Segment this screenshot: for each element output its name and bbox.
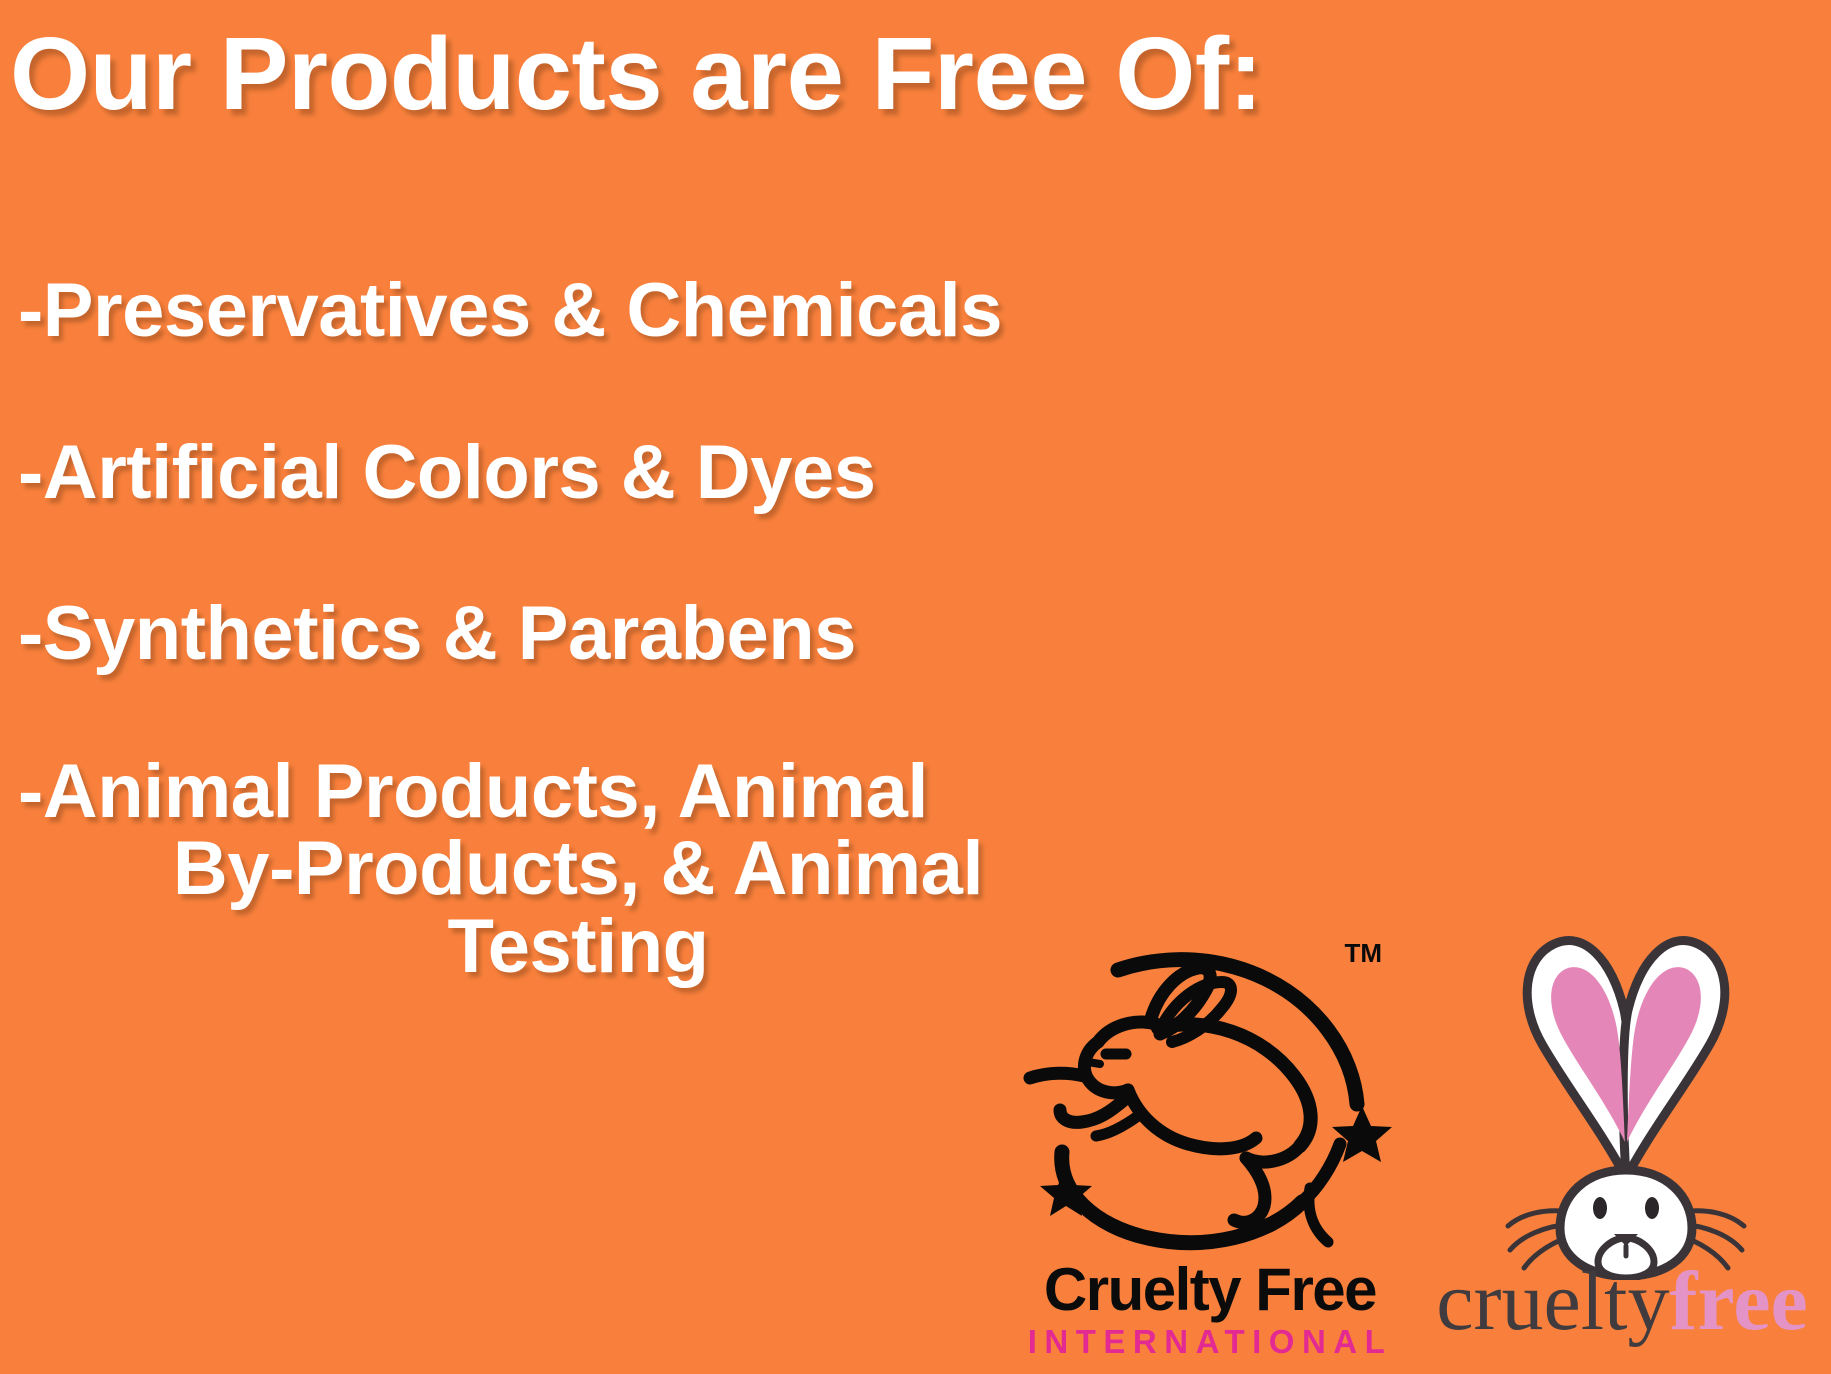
free-of-list: -Preservatives & Chemicals -Artificial C… [18,272,1168,985]
list-item-animal-products-line-2: By-Products, & Animal [18,830,1168,908]
slide-canvas: Our Products are Free Of: -Preservatives… [0,0,1831,1374]
list-item-animal-products-line-3: Testing [18,908,1168,986]
page-title: Our Products are Free Of: [10,16,1262,131]
cruelty-free-bunny-logo: crueltyfree [1426,930,1826,1374]
leaping-bunny-icon [1010,930,1410,1260]
logo-subtitle-international: INTERNATIONAL [1010,1325,1410,1358]
logo-word-free: free [1669,1255,1807,1348]
list-item-artificial-colors: -Artificial Colors & Dyes [18,434,1168,512]
cruelty-free-international-logo: TM Cruelty Free INTERNATIONAL [1010,930,1410,1374]
logo-name-cruelty-free: Cruelty Free [1010,1260,1410,1320]
list-item-animal-products-line-1: -Animal Products, Animal [18,753,1168,831]
heart-ear-bunny-icon [1426,920,1826,1280]
list-item-synthetics: -Synthetics & Parabens [18,595,1168,673]
certification-logos: TM Cruelty Free INTERNATIONAL [1010,930,1831,1374]
list-item-preservatives: -Preservatives & Chemicals [18,272,1168,350]
trademark-symbol: TM [1344,938,1382,969]
cruelty-free-international-wordmark: Cruelty Free INTERNATIONAL [1010,1260,1410,1358]
cruelty-free-wordmark: crueltyfree [1412,1260,1831,1344]
list-item-animal-products: -Animal Products, Animal By-Products, & … [18,753,1168,986]
logo-word-cruelty: cruelty [1436,1255,1669,1348]
